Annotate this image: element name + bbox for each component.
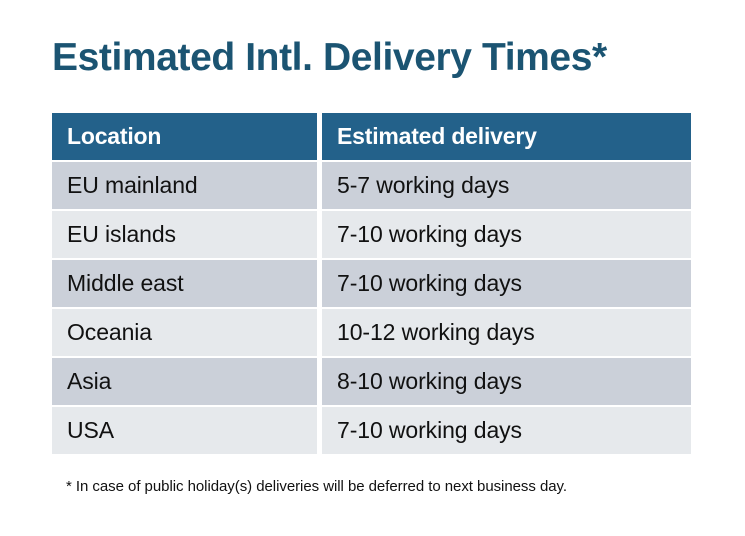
cell-delivery: 7-10 working days	[322, 211, 691, 258]
cell-location-text: Middle east	[52, 270, 317, 297]
cell-delivery: 7-10 working days	[322, 407, 691, 454]
column-header-delivery[interactable]: Estimated delivery	[322, 113, 691, 160]
cell-location: Middle east	[52, 260, 317, 307]
cell-delivery: 5-7 working days	[322, 162, 691, 209]
table-body: EU mainland 5-7 working days EU islands …	[52, 160, 691, 454]
table-header-row: Location Estimated delivery	[52, 113, 691, 160]
cell-location-text: Asia	[52, 368, 317, 395]
cell-location: USA	[52, 407, 317, 454]
cell-location: Asia	[52, 358, 317, 405]
cell-location-text: USA	[52, 417, 317, 444]
page-title: Estimated Intl. Delivery Times*	[52, 36, 607, 80]
cell-delivery: 7-10 working days	[322, 260, 691, 307]
table-row[interactable]: EU islands 7-10 working days	[52, 211, 691, 258]
cell-location-text: EU mainland	[52, 172, 317, 199]
column-header-delivery-label: Estimated delivery	[322, 123, 691, 150]
cell-location-text: Oceania	[52, 319, 317, 346]
cell-delivery-text: 10-12 working days	[322, 319, 691, 346]
table-row[interactable]: Oceania 10-12 working days	[52, 309, 691, 356]
column-header-location-label: Location	[52, 123, 317, 150]
delivery-times-panel: Estimated Intl. Delivery Times* Location…	[0, 0, 745, 536]
column-header-location[interactable]: Location	[52, 113, 317, 160]
cell-delivery-text: 8-10 working days	[322, 368, 691, 395]
cell-location-text: EU islands	[52, 221, 317, 248]
table-header: Location Estimated delivery	[52, 113, 691, 160]
cell-delivery-text: 7-10 working days	[322, 270, 691, 297]
table-row[interactable]: Asia 8-10 working days	[52, 358, 691, 405]
cell-location: Oceania	[52, 309, 317, 356]
cell-location: EU mainland	[52, 162, 317, 209]
cell-location: EU islands	[52, 211, 317, 258]
cell-delivery-text: 5-7 working days	[322, 172, 691, 199]
table-row[interactable]: USA 7-10 working days	[52, 407, 691, 454]
footnote: * In case of public holiday(s) deliverie…	[66, 478, 567, 495]
delivery-times-table: Location Estimated delivery EU mainland	[52, 113, 691, 454]
cell-delivery: 8-10 working days	[322, 358, 691, 405]
cell-delivery-text: 7-10 working days	[322, 417, 691, 444]
table-row[interactable]: Middle east 7-10 working days	[52, 260, 691, 307]
cell-delivery-text: 7-10 working days	[322, 221, 691, 248]
cell-delivery: 10-12 working days	[322, 309, 691, 356]
table-row[interactable]: EU mainland 5-7 working days	[52, 162, 691, 209]
